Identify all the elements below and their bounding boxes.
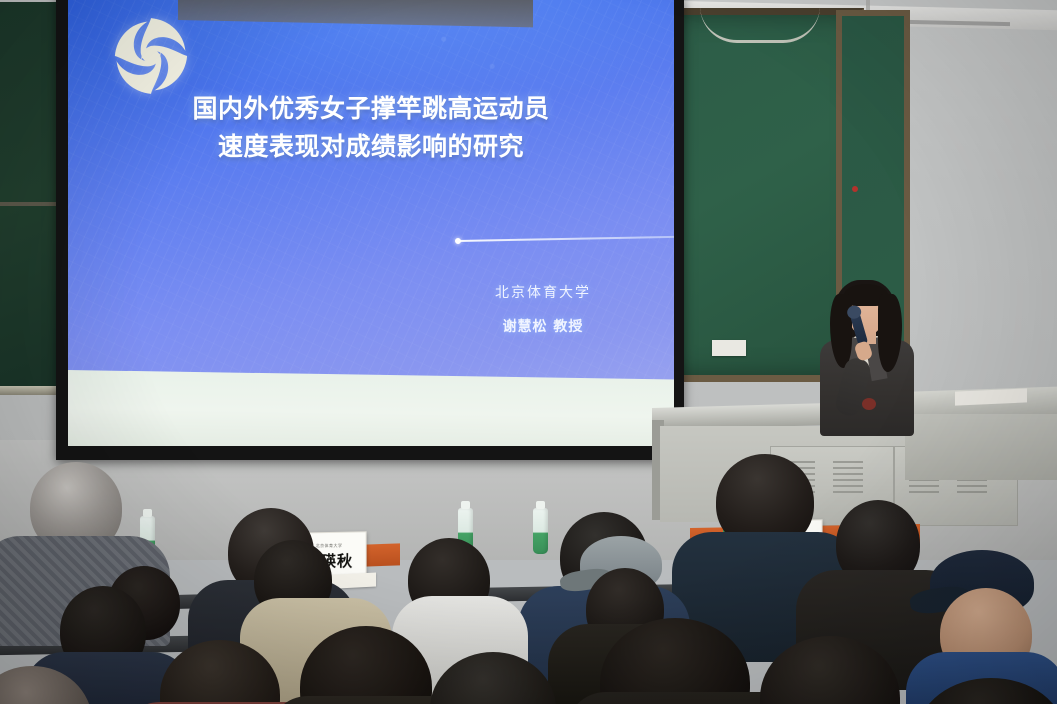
slide-footer-band: [68, 370, 674, 446]
beijing-sport-university-swirl-logo: [108, 10, 194, 102]
bottle-cap: [143, 509, 152, 517]
chalkboard-notice-card: [712, 340, 746, 356]
lecture-hall-photo: 国内外优秀女子撑竿跳高运动员 速度表现对成绩影响的研究 北京体育大学 谢慧松 教…: [0, 0, 1057, 704]
hanging-wire: [700, 6, 820, 43]
audience-area: 北京体育大学 张瑛秋 北京体育大学 樊庆敏 北京体育大学 嘉宾: [0, 440, 1057, 704]
slide-organization: 北京体育大学: [448, 276, 638, 310]
chalkboard-left-divider: [0, 202, 58, 206]
slide-subtitle-block: 北京体育大学 谢慧松 教授: [448, 276, 638, 345]
projection-screen-frame: 国内外优秀女子撑竿跳高运动员 速度表现对成绩影响的研究 北京体育大学 谢慧松 教…: [56, 0, 684, 460]
bottle-cap: [536, 501, 545, 509]
water-bottle: [533, 508, 548, 554]
red-marker-dot: [852, 186, 858, 192]
chalkboard-left-tray: [0, 386, 62, 395]
slide-title: 国内外优秀女子撑竿跳高运动员 速度表现对成绩影响的研究: [68, 90, 674, 166]
name-card-org: 北京体育大学: [316, 543, 343, 549]
presenter-badge: [862, 398, 876, 410]
slide-presenter: 谢慧松 教授: [448, 310, 638, 344]
slide-title-line-1: 国内外优秀女子撑竿跳高运动员: [68, 90, 674, 128]
slide-title-line-2: 速度表现对成绩影响的研究: [68, 128, 674, 166]
presenter-speaking: [806, 276, 926, 436]
slide-divider-dot: [455, 238, 461, 244]
projection-screen: 国内外优秀女子撑竿跳高运动员 速度表现对成绩影响的研究 北京体育大学 谢慧松 教…: [68, 0, 674, 446]
chalkboard-left: [0, 2, 61, 394]
bottle-cap: [461, 501, 470, 509]
